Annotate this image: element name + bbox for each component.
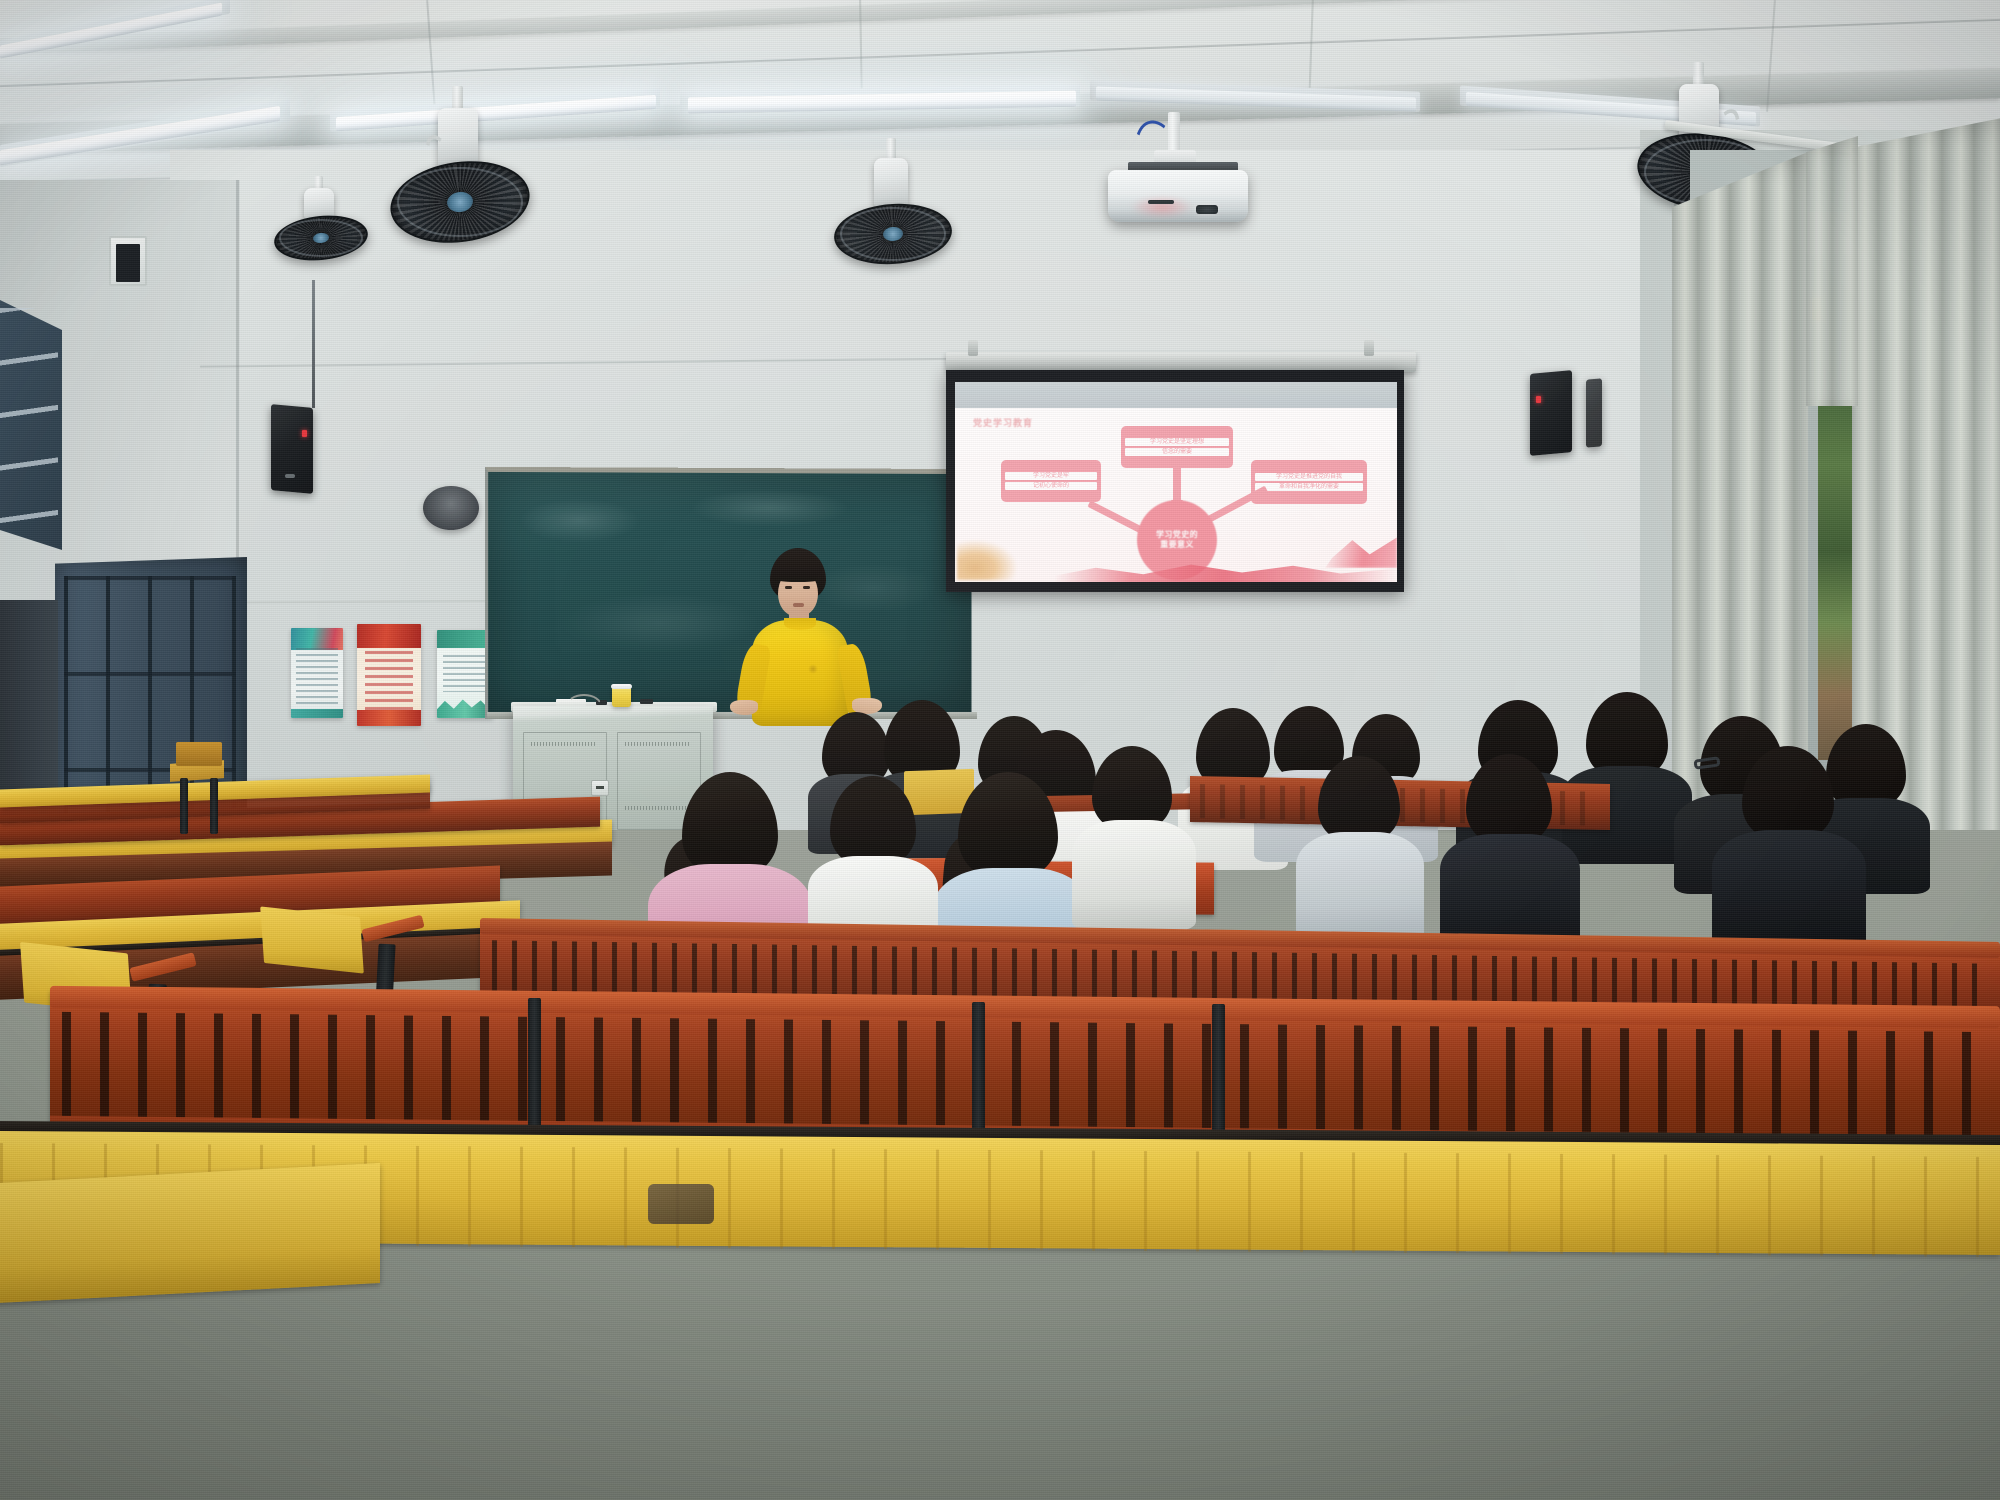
slide-node-right-line1: 学习党史是推进党的自我 (1255, 473, 1363, 481)
podium-vent-left (531, 742, 597, 746)
blackboard (485, 467, 971, 719)
cup-lid (611, 684, 632, 689)
presenter-collar (784, 618, 816, 630)
wall-poster-1 (291, 628, 343, 718)
projection-screen[interactable]: 党史学习教育 学习党史是坚定理想 信念的需要 学习党史是牢 记初心使命的 学习党… (955, 382, 1397, 582)
poster-2-footer (357, 710, 421, 726)
wall-poster-2 (357, 624, 421, 726)
poster-2-rows (365, 651, 414, 714)
student-grey-mid-body (1296, 832, 1424, 944)
chalk-smudge-1 (519, 498, 640, 543)
poster-1-footer (291, 709, 343, 718)
slide-decoration-left (957, 540, 1017, 580)
speaker-port-left (285, 474, 295, 478)
slide-node-left-line2: 记初心使命的 (1005, 482, 1097, 490)
stray-chair-legs (180, 778, 188, 834)
student-white-mid-2-body (1072, 820, 1196, 930)
slide-node-left: 学习党史是牢 记初心使命的 (1001, 460, 1101, 502)
chalk-smudge-3 (559, 593, 760, 653)
slide-decoration-right (1325, 534, 1397, 568)
wall-mounted-fan-cap (423, 486, 479, 530)
connector-top-stem (1173, 468, 1181, 502)
poster-1-text (296, 648, 338, 706)
stray-chair-legs-2 (210, 778, 218, 834)
speaker-led-mid (1536, 396, 1541, 403)
presenter-eye-left (785, 586, 792, 589)
window-grille-bars (0, 308, 58, 544)
slide-node-left-line1: 学习党史是牢 (1005, 472, 1097, 480)
poster-1-header (291, 628, 343, 650)
projector-lens (1196, 205, 1218, 214)
speaker-led-left (302, 430, 307, 437)
projector-mount-rod (1168, 112, 1180, 154)
projector-vent (1148, 200, 1174, 204)
podium-vent-right-2 (625, 806, 691, 810)
poster-2-header (357, 624, 421, 648)
chalk-smudge-2 (690, 489, 849, 527)
wall-speaker-left (271, 404, 313, 494)
fan-2-guard (397, 167, 523, 237)
podium-vent-right (625, 742, 691, 746)
screen-bracket-right (1364, 340, 1374, 356)
screen-bracket-left (968, 340, 978, 356)
presenter-eye-right (803, 586, 810, 589)
chalk-smudge-4 (810, 563, 938, 613)
podium-socket-slot (596, 786, 604, 789)
wall-speaker-right (1586, 378, 1602, 447)
curtain-middle-panel[interactable] (1806, 136, 1858, 406)
slide-node-right: 学习党史是推进党的自我 革命和自我净化的需要 (1251, 460, 1367, 504)
wall-speaker-mid (1530, 370, 1572, 456)
flip-seat-left-2[interactable] (260, 906, 364, 973)
slide-node-top-line2: 信念的需要 (1125, 448, 1229, 456)
slide-node-top-line1: 学习党史是坚定理想 (1125, 438, 1229, 446)
poster-3-text (443, 655, 488, 692)
yellow-cup[interactable] (612, 687, 631, 707)
antenna-rod (312, 280, 315, 408)
screen-top-band (955, 382, 1397, 408)
presenter-shirt-logo (808, 664, 818, 674)
classroom-photo: 党史学习教育 学习党史是坚定理想 信念的需要 学习党史是牢 记初心使命的 学习党… (0, 0, 2000, 1500)
center-node-line2: 重要意义 (1160, 540, 1194, 550)
podium-remote[interactable] (640, 699, 653, 704)
wall-junction-box-inner (116, 244, 140, 282)
center-node-line1: 学习党史的 (1156, 530, 1198, 540)
desk-corner-bottomleft (0, 1163, 380, 1305)
presenter-hand-left (730, 700, 758, 715)
presenter-mouth (793, 603, 804, 607)
fan-3-guard (840, 207, 946, 261)
floor-item-bag (648, 1184, 714, 1224)
slide-node-right-line2: 革命和自我净化的需要 (1255, 483, 1363, 491)
fan-1-guard (279, 219, 363, 257)
slide-node-top: 学习党史是坚定理想 信念的需要 (1121, 426, 1233, 468)
student-black-right-body (1712, 830, 1866, 954)
slide-deck-title: 党史学习教育 (973, 416, 1033, 429)
slide-canvas: 党史学习教育 学习党史是坚定理想 信念的需要 学习党史是牢 记初心使命的 学习党… (955, 408, 1397, 582)
stray-chair-back (176, 742, 222, 766)
screen-case[interactable] (946, 352, 1416, 372)
